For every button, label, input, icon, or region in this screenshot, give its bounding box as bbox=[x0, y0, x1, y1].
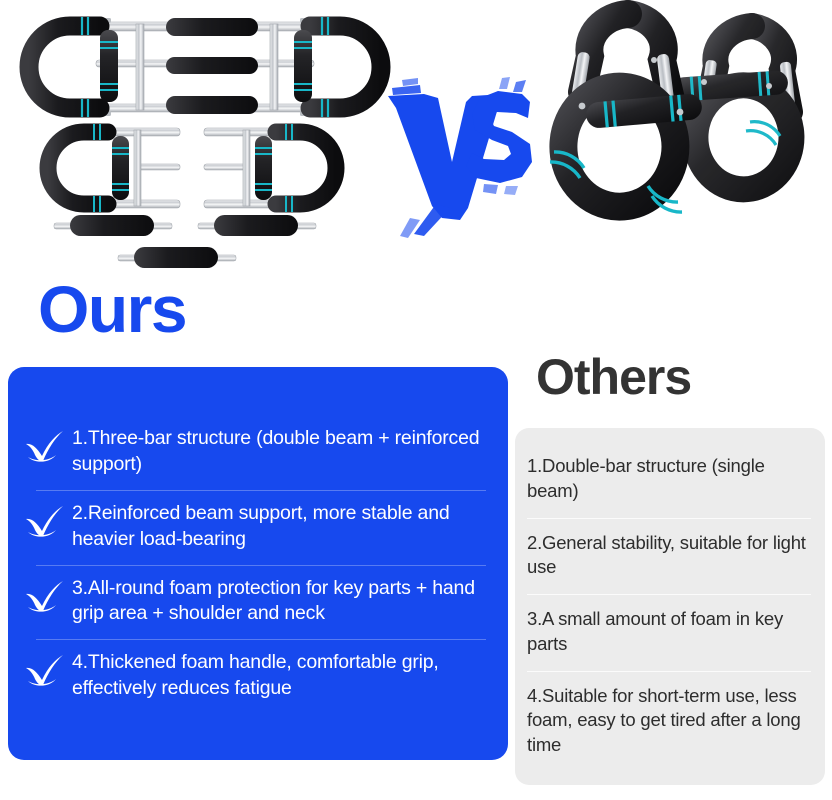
vs-badge-icon bbox=[380, 58, 540, 238]
list-item: 2.General stability, suitable for light … bbox=[527, 518, 811, 595]
others-front-unit bbox=[550, 14, 703, 212]
list-item-label: 2.Reinforced beam support, more stable a… bbox=[72, 501, 492, 553]
check-icon bbox=[22, 577, 66, 613]
ours-feature-panel: 1.Three-bar structure (double beam + rei… bbox=[8, 367, 508, 760]
list-item: 3.A small amount of foam in key parts bbox=[527, 594, 811, 671]
list-item: 1.Three-bar structure (double beam + rei… bbox=[22, 415, 492, 490]
list-item-label: 1.Three-bar structure (double beam + rei… bbox=[72, 426, 492, 478]
ours-disassembled-frame bbox=[48, 124, 336, 212]
check-icon bbox=[22, 651, 66, 687]
ours-heading: Ours bbox=[38, 276, 186, 342]
ours-top-unit bbox=[29, 17, 381, 117]
ours-product-image bbox=[8, 4, 398, 282]
list-item: 3.All-round foam protection for key part… bbox=[22, 565, 492, 640]
list-item-label: 3.All-round foam protection for key part… bbox=[72, 576, 492, 628]
list-item: 4.Thickened foam handle, comfortable gri… bbox=[22, 639, 492, 714]
check-icon bbox=[22, 427, 66, 463]
list-item: 4.Suitable for short-term use, less foam… bbox=[527, 671, 811, 772]
hero-product-comparison-image bbox=[0, 0, 832, 285]
ours-loose-grip-bars bbox=[54, 215, 316, 268]
list-item: 1.Double-bar structure (single beam) bbox=[527, 441, 811, 518]
check-icon bbox=[22, 502, 66, 538]
list-item-label: 4.Thickened foam handle, comfortable gri… bbox=[72, 650, 492, 702]
others-heading: Others bbox=[536, 352, 691, 402]
list-item: 2.Reinforced beam support, more stable a… bbox=[22, 490, 492, 565]
others-feature-panel: 1.Double-bar structure (single beam) 2.G… bbox=[515, 428, 825, 785]
others-product-image bbox=[520, 0, 832, 290]
